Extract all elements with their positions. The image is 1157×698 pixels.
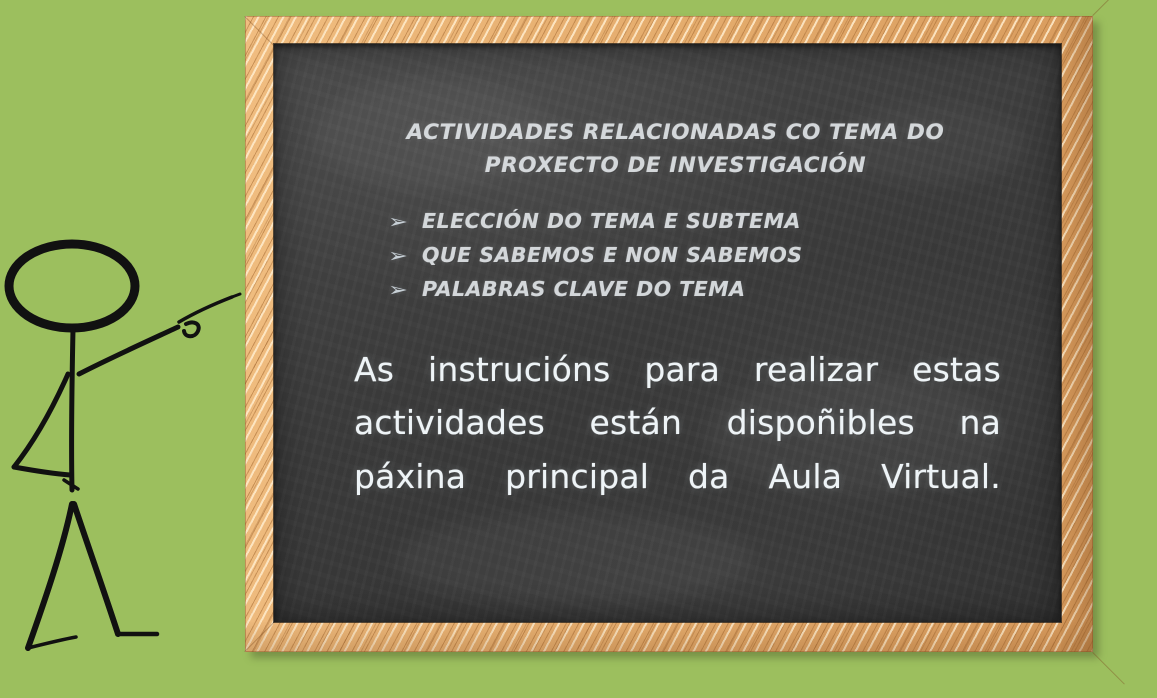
slide-canvas: ACTIVIDADES RELACIONADAS CO TEMA DO PROX… — [0, 0, 1157, 698]
figure-leg-front — [74, 504, 118, 634]
figure-pointing-arm — [79, 327, 178, 374]
list-item: ➢ PALABRAS CLAVE DO TEMA — [388, 277, 1005, 301]
arrow-bullet-icon: ➢ — [388, 211, 431, 233]
figure-head — [9, 244, 135, 328]
frame-mitre-top-left — [244, 16, 276, 48]
figure-left-arm-lower — [14, 467, 70, 475]
frame-shadow-right — [1061, 16, 1093, 652]
blackboard: ACTIVIDADES RELACIONADAS CO TEMA DO PROX… — [245, 16, 1093, 652]
figure-left-arm-upper — [14, 374, 68, 467]
list-item: ➢ ELECCIÓN DO TEMA E SUBTEMA — [388, 209, 1005, 233]
list-item-label: QUE SABEMOS E NON SABEMOS — [422, 243, 1005, 267]
activity-list: ➢ ELECCIÓN DO TEMA E SUBTEMA ➢ QUE SABEM… — [346, 209, 1005, 301]
wooden-frame: ACTIVIDADES RELACIONADAS CO TEMA DO PROX… — [245, 16, 1093, 652]
arrow-bullet-icon: ➢ — [388, 279, 431, 301]
list-item-label: ELECCIÓN DO TEMA E SUBTEMA — [422, 209, 1005, 233]
frame-mitre-bottom-left — [244, 620, 276, 652]
frame-shadow-bottom — [245, 622, 1093, 652]
chalkboard-surface: ACTIVIDADES RELACIONADAS CO TEMA DO PROX… — [274, 44, 1061, 622]
list-item: ➢ QUE SABEMOS E NON SABEMOS — [388, 243, 1005, 267]
board-paragraph: As instrucións para realizar estas activ… — [354, 343, 1001, 558]
list-item-label: PALABRAS CLAVE DO TEMA — [422, 277, 1005, 301]
figure-foot-back — [28, 637, 76, 648]
figure-pointer-stick — [179, 297, 232, 322]
board-content: ACTIVIDADES RELACIONADAS CO TEMA DO PROX… — [274, 44, 1061, 622]
figure-leg-back — [28, 504, 72, 648]
stick-figure-illustration — [0, 228, 250, 668]
board-title: ACTIVIDADES RELACIONADAS CO TEMA DO PROX… — [346, 116, 1005, 183]
figure-torso — [72, 329, 73, 490]
figure-pointer-tip — [232, 294, 240, 297]
arrow-bullet-icon: ➢ — [388, 245, 431, 267]
stick-figure-svg — [0, 228, 250, 668]
figure-hand — [184, 322, 199, 336]
